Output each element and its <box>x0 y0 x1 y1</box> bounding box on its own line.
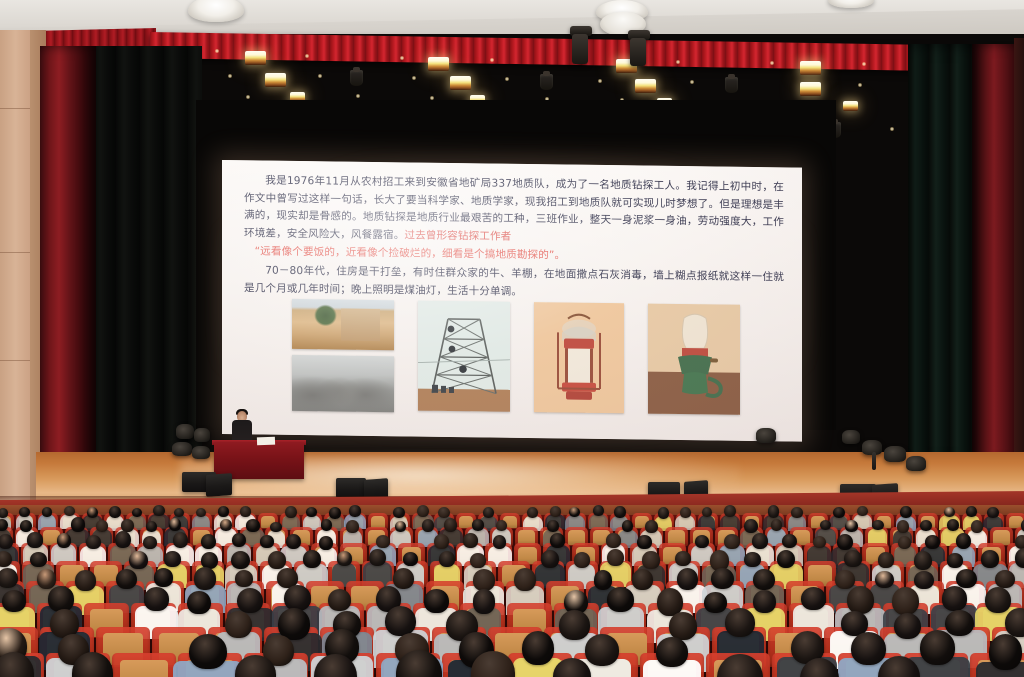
audience-person-head <box>857 506 868 517</box>
audience-person-head <box>337 551 353 566</box>
audience-person-head <box>724 534 740 549</box>
audience-person-head <box>194 567 216 589</box>
audience-person-head <box>872 520 884 531</box>
audience-person-head <box>669 612 697 640</box>
audience-person-head <box>403 552 418 566</box>
audience-person-head <box>791 507 803 518</box>
audience-person-head <box>86 535 101 549</box>
audience-person-head <box>677 568 698 590</box>
audience-person-head <box>845 520 858 532</box>
par-can-light <box>906 456 926 471</box>
hanging-spotlight <box>630 38 646 66</box>
audience-person-head <box>154 568 174 587</box>
audience-person-head <box>270 522 281 532</box>
audience-person-head <box>0 534 13 549</box>
audience-person-head <box>121 519 134 532</box>
audience-person-head <box>752 533 767 549</box>
audience-person-head <box>559 610 590 640</box>
audience-person-head <box>129 551 147 569</box>
audience-person-head <box>547 520 559 532</box>
audience-person-head <box>164 551 180 567</box>
audience-person-head <box>0 508 8 518</box>
audience-person-head <box>64 506 75 516</box>
audience-person-head <box>702 507 712 518</box>
audience-person-head <box>675 551 690 567</box>
audience-person-head <box>771 519 782 531</box>
audience-person-head <box>606 533 621 547</box>
audience-person-head <box>109 506 121 518</box>
light-stand <box>872 452 876 470</box>
audience-person-head <box>777 550 795 569</box>
audience-person-head <box>116 569 137 589</box>
auditorium-scene: 我是1976年11月从农村招工来到安徽省地矿局337地质队，成为了一名地质钻探工… <box>0 0 1024 677</box>
audience-person-head <box>966 506 977 517</box>
audience-person-head <box>642 551 660 569</box>
kerosene-lamp-icon <box>648 304 740 415</box>
audience-person-head <box>989 634 1022 669</box>
audience-person-head <box>753 569 775 590</box>
audience-person-head <box>541 550 559 568</box>
audience-person-head <box>897 520 909 533</box>
presenter-papers <box>257 437 275 446</box>
stage-monitor-speaker <box>336 478 366 498</box>
audience-person-head <box>614 506 626 518</box>
audience-person-head <box>813 536 826 549</box>
audience-person-head <box>744 552 760 568</box>
right-wall-edge <box>1014 38 1024 488</box>
audience-person-head <box>20 520 32 532</box>
audience-person-head <box>971 520 984 533</box>
audience-person-head <box>2 590 26 612</box>
audience-person-head <box>1005 608 1024 638</box>
audience-person-head <box>37 569 56 589</box>
audience-person-head <box>945 610 974 637</box>
audience-person-head <box>232 533 246 547</box>
audience-person-head <box>321 519 333 531</box>
audience-person-head <box>753 590 776 613</box>
par-can-light <box>176 424 194 439</box>
audience-person-head <box>268 551 286 569</box>
projection-screen: 我是1976年11月从农村招工来到安徽省地矿局337地质队，成为了一名地质钻探工… <box>222 160 802 442</box>
audience-person-head <box>285 506 297 518</box>
audience-person-head <box>57 533 71 548</box>
audience-person-head <box>472 519 485 531</box>
audience-person-head <box>851 632 886 666</box>
audience-person-head <box>328 589 351 611</box>
audience-person-head <box>240 506 252 517</box>
audience-seat-cushion <box>120 660 167 677</box>
photo-group-stacked <box>292 299 394 412</box>
audience-person-head <box>27 532 42 547</box>
audience-person-head <box>801 587 826 610</box>
audience-person-head <box>914 571 933 589</box>
audience-person-head <box>947 553 963 568</box>
audience-person-head <box>658 507 669 519</box>
audience-person-head <box>470 553 486 568</box>
slide-paragraph-1: 我是1976年11月从农村招工来到安徽省地矿局337地质队，成为了一名地质钻探工… <box>244 172 784 249</box>
slide-surface: 我是1976年11月从农村招工来到安徽省地矿局337地质队，成为了一名地质钻探工… <box>222 160 802 442</box>
audience-person-head <box>235 570 253 587</box>
audience-person-head <box>96 520 108 531</box>
audience-person-head <box>898 536 911 549</box>
audience-person-head <box>894 613 922 640</box>
audience-person-head <box>143 536 157 549</box>
audience-person-head <box>878 552 895 568</box>
audience-person-head <box>473 589 495 613</box>
audience-person-head <box>201 534 216 549</box>
audience-person-head <box>169 518 181 531</box>
audience-person-head <box>225 611 252 638</box>
par-can-light <box>884 446 906 462</box>
audience-person-head <box>645 520 658 533</box>
audience-person-head <box>463 533 478 547</box>
photo-earth-rammed-house <box>292 299 394 350</box>
audience-person-head <box>514 568 536 592</box>
audience-person-head <box>550 506 562 517</box>
audience-person-head <box>385 606 416 636</box>
audience-person-head <box>1015 535 1024 549</box>
audience-person-head <box>942 586 967 610</box>
audience-person-head <box>439 551 455 567</box>
audience-person-head <box>522 631 554 665</box>
audience-person-head <box>286 534 301 549</box>
audience-person-head <box>329 507 341 519</box>
audience-area <box>0 505 1024 677</box>
audience-person-head <box>844 550 862 567</box>
audience-person-head <box>196 508 206 518</box>
audience-person-head <box>434 534 449 549</box>
audience-person-head <box>306 507 317 517</box>
audience-person-head <box>768 505 780 517</box>
photo-red-kerosene-lantern <box>534 302 624 413</box>
audience-person-head <box>132 508 142 517</box>
audience-person-head <box>632 569 653 589</box>
audience-person-head <box>369 549 386 566</box>
audience-person-head <box>622 520 633 532</box>
audience-person-head <box>981 550 999 568</box>
stage-monitor-speaker <box>206 473 232 497</box>
slide-paragraph-2: 70－80年代，住房是干打垒，有时住群众家的牛、羊棚，在地面撒点石灰消毒，墙上糊… <box>244 262 784 304</box>
audience-person-head <box>393 507 404 519</box>
audience-person-head <box>607 587 633 612</box>
audience-person-head <box>220 519 232 531</box>
derrick-icon <box>418 301 510 412</box>
audience-person-head <box>346 520 359 532</box>
slide-p2-normal: 70－80年代，住房是干打垒，有时住群众家的牛、羊棚，在地面撒点石灰消毒，墙上糊… <box>244 265 784 298</box>
stage-curtain-red-left <box>40 46 96 476</box>
audience-person-head <box>48 586 73 611</box>
audience-person-head <box>71 517 85 532</box>
audience-person-head <box>496 520 507 531</box>
audience-person-head <box>925 535 940 549</box>
audience-person-head <box>574 552 590 568</box>
audience-person-head <box>75 570 96 590</box>
kerosene-lantern-icon <box>534 302 624 413</box>
audience-person-head <box>422 519 434 532</box>
audience-person-head <box>695 535 709 548</box>
audience-person-head <box>607 549 624 566</box>
audience-person-head <box>995 570 1015 588</box>
audience-person-head <box>985 587 1011 613</box>
audience-person-head <box>493 535 506 549</box>
audience-person-head <box>680 507 691 518</box>
audience-person-head <box>892 587 918 615</box>
audience-person-head <box>153 505 165 516</box>
audience-person-head <box>87 507 98 518</box>
audience-person-head <box>987 507 999 518</box>
photo-camp-equipment <box>292 355 394 412</box>
audience-person-head <box>920 630 955 665</box>
audience-person-head <box>349 505 361 516</box>
audience-person-head <box>835 570 854 589</box>
audience-person-head <box>637 535 652 549</box>
audience-person-head <box>900 506 912 518</box>
audience-person-head <box>704 592 726 613</box>
audience-person-head <box>656 637 688 667</box>
hanging-spotlight <box>572 34 588 64</box>
audience-person-head <box>376 535 390 548</box>
stage-curtain-dark-left <box>92 46 202 476</box>
par-can-light <box>194 428 210 442</box>
audience-person-head <box>837 534 853 550</box>
audience-person-head <box>0 568 18 589</box>
par-can-light <box>192 446 210 459</box>
audience-person-head <box>875 571 893 588</box>
photo-drilling-derrick <box>418 301 510 412</box>
audience-person-head <box>585 634 619 666</box>
audience-person-head <box>187 591 210 614</box>
slide-text-block: 我是1976年11月从农村招工来到安徽省地矿局337地质队，成为了一名地质钻探工… <box>244 172 784 305</box>
audience-person-head <box>594 570 613 590</box>
audience-person-head <box>438 507 450 519</box>
audience-person-head <box>473 569 495 590</box>
audience-person-head <box>237 588 263 614</box>
audience-person-head <box>417 505 429 517</box>
audience-person-head <box>914 551 932 570</box>
audience-person-head <box>260 535 273 547</box>
audience-person-head <box>42 507 52 517</box>
audience-person-head <box>956 569 977 589</box>
audience-person-head <box>319 536 333 550</box>
audience-person-head <box>550 533 565 548</box>
slide-photo-strip <box>292 299 762 423</box>
audience-person-head <box>947 519 960 532</box>
audience-person-head <box>833 507 845 518</box>
audience-person-head <box>189 634 226 669</box>
audience-person-head <box>444 518 458 532</box>
audience-person-head <box>115 531 131 548</box>
audience-person-head <box>0 519 8 531</box>
audience-person-head <box>744 519 758 533</box>
audience-person-head <box>711 568 734 589</box>
audience-person-head <box>19 507 30 517</box>
audience-person-head <box>146 521 157 532</box>
audience-person-head <box>424 589 449 613</box>
audience-person-head <box>724 505 736 517</box>
par-can-light <box>172 442 192 456</box>
stage-curtain-dark-right <box>908 44 978 466</box>
audience-person-head <box>395 521 406 532</box>
audience-person-head <box>246 519 259 531</box>
par-can-light <box>756 428 776 443</box>
audience-person-head <box>782 534 797 548</box>
slide-p1-normal: 我是1976年11月从农村招工来到安徽省地矿局337地质队，成为了一名地质钻探工… <box>244 175 784 242</box>
audience-person-head <box>144 587 169 611</box>
audience-person-head <box>393 568 414 589</box>
audience-person-head <box>30 552 47 568</box>
audience-person-head <box>725 608 755 637</box>
audience-person-head <box>847 586 874 614</box>
audience-person-head <box>173 532 188 548</box>
stage-curtain-red-right <box>972 44 1018 464</box>
photo-green-kerosene-lamp <box>648 304 740 415</box>
slide-p1-highlight: 过去曾形容钻探工作者 <box>404 229 511 242</box>
audience-person-head <box>1015 548 1024 568</box>
ceiling-downlight <box>188 0 244 22</box>
audience-person-head <box>303 550 321 568</box>
par-can-light <box>842 430 860 444</box>
audience-person-head <box>956 533 971 549</box>
audience-person-head <box>218 506 229 516</box>
